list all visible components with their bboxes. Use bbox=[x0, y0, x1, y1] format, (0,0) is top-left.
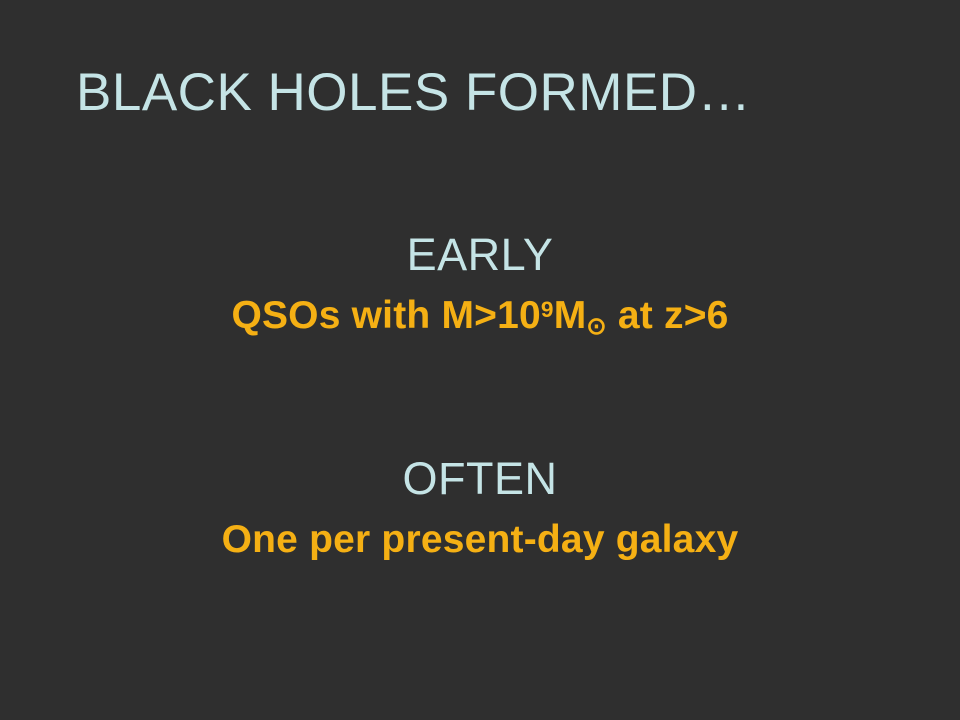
detail-text-prefix: One per present-day galaxy bbox=[222, 518, 739, 561]
presentation-slide: BLACK HOLES FORMED… EARLY QSOs with M>10… bbox=[0, 0, 960, 720]
detail-text-suffix: at z>6 bbox=[607, 294, 729, 337]
detail-text-middle: M bbox=[554, 294, 587, 337]
detail-text-prefix: QSOs with M>10 bbox=[231, 294, 540, 337]
slide-title: BLACK HOLES FORMED… bbox=[76, 62, 884, 124]
section-heading-early: EARLY bbox=[0, 228, 960, 282]
section-detail-early: QSOs with M>109M⊙ at z>6 bbox=[0, 292, 960, 340]
solar-mass-subscript-icon: ⊙ bbox=[586, 313, 606, 340]
detail-superscript: 9 bbox=[541, 297, 554, 322]
content-block-often: OFTEN One per present-day galaxy bbox=[0, 452, 960, 564]
section-detail-often: One per present-day galaxy bbox=[0, 516, 960, 564]
content-block-early: EARLY QSOs with M>109M⊙ at z>6 bbox=[0, 228, 960, 340]
section-heading-often: OFTEN bbox=[0, 452, 960, 506]
